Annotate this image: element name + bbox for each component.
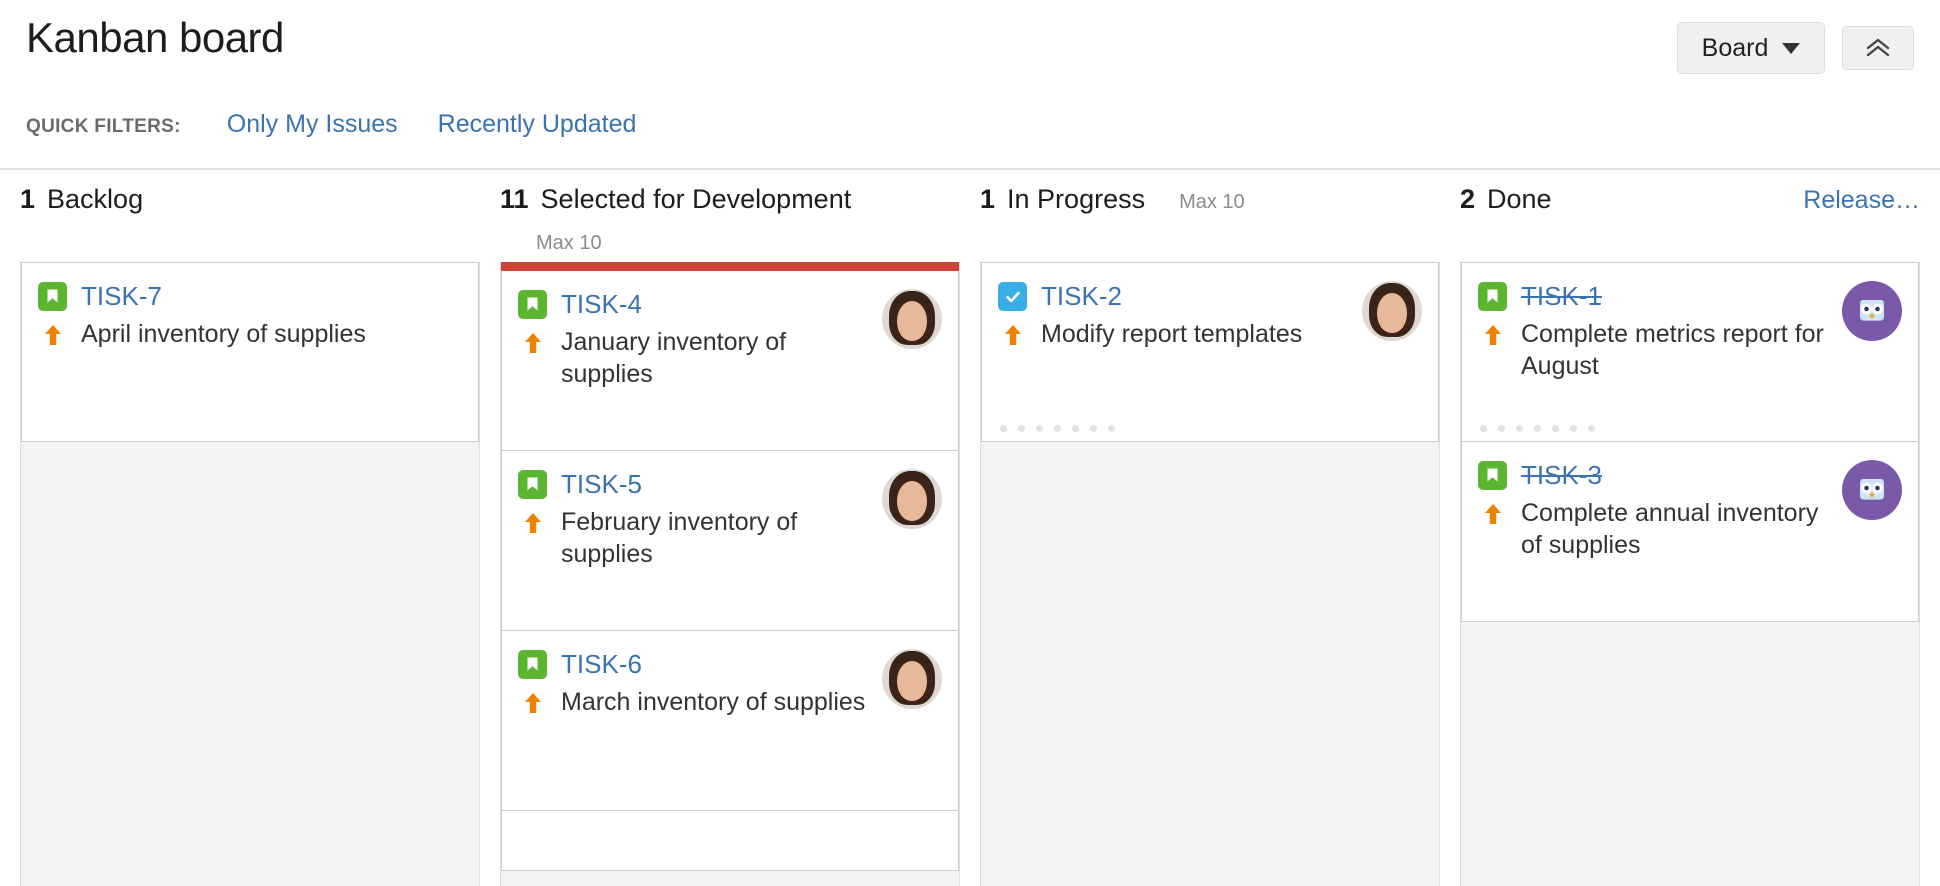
card-summary-row: March inventory of supplies	[518, 686, 868, 718]
issue-card[interactable]: TISK-5February inventory of supplies	[501, 451, 959, 631]
assignee-avatar[interactable]	[1842, 281, 1902, 341]
priority-high-arrow-icon	[518, 688, 547, 717]
issue-key-link[interactable]: TISK-3	[1521, 460, 1602, 491]
issue-summary: Complete annual inventory of supplies	[1521, 497, 1828, 561]
priority-high-arrow-icon	[518, 328, 547, 357]
column-title: Selected for Development	[541, 184, 852, 215]
card-summary-row: January inventory of supplies	[518, 326, 868, 390]
quick-filters-label: QUICK FILTERS:	[26, 116, 181, 138]
card-content: TISK-4January inventory of supplies	[518, 289, 942, 390]
story-icon	[38, 282, 67, 311]
card-drag-handle[interactable]	[1480, 425, 1595, 432]
column-issue-count: 2	[1460, 184, 1475, 215]
column-issue-count: 1	[20, 184, 35, 215]
column-card-list: TISK-4January inventory of suppliesTISK-…	[500, 262, 960, 886]
card-content: TISK-7April inventory of supplies	[38, 281, 462, 350]
wip-limit-exceeded-bar	[501, 262, 959, 271]
issue-key-link[interactable]: TISK-5	[561, 469, 642, 500]
title-row: Kanban board Board	[26, 14, 1914, 74]
column-max-limit: Max 10	[1179, 191, 1245, 214]
issue-card[interactable]: TISK-6March inventory of supplies	[501, 631, 959, 811]
card-key-row: TISK-3	[1478, 460, 1828, 491]
card-key-row: TISK-5	[518, 469, 868, 500]
board-header: Kanban board Board QUICK FILTERS: Only M…	[0, 0, 1940, 170]
story-icon	[518, 290, 547, 319]
issue-key-link[interactable]: TISK-4	[561, 289, 642, 320]
quick-filter-only-my-issues[interactable]: Only My Issues	[227, 110, 398, 139]
card-drag-handle[interactable]	[1000, 425, 1115, 432]
issue-card[interactable]: TISK-7April inventory of supplies	[21, 262, 479, 442]
board-dropdown-label: Board	[1702, 33, 1769, 63]
column-card-list: TISK-1Complete metrics report for August…	[1460, 262, 1920, 886]
issue-key-link[interactable]: TISK-7	[81, 281, 162, 312]
board-column-selected-for-development: 11Selected for DevelopmentMax 10TISK-4Ja…	[500, 170, 960, 886]
card-summary-row: Complete annual inventory of supplies	[1478, 497, 1828, 561]
issue-key-link[interactable]: TISK-1	[1521, 281, 1602, 312]
card-content: TISK-6March inventory of supplies	[518, 649, 942, 718]
issue-key-link[interactable]: TISK-6	[561, 649, 642, 680]
column-header: 11Selected for DevelopmentMax 10	[500, 170, 960, 262]
card-content: TISK-1Complete metrics report for August	[1478, 281, 1902, 382]
issue-card[interactable]: TISK-3Complete annual inventory of suppl…	[1461, 442, 1919, 622]
header-actions: Board	[1677, 14, 1914, 74]
assignee-avatar[interactable]	[882, 649, 942, 709]
release-link[interactable]: Release…	[1803, 186, 1920, 215]
card-key-row: TISK-1	[1478, 281, 1828, 312]
kanban-board: 1BacklogTISK-7April inventory of supplie…	[0, 170, 1940, 886]
card-key-row: TISK-4	[518, 289, 868, 320]
task-icon	[998, 282, 1027, 311]
column-card-list: TISK-7April inventory of supplies	[20, 262, 480, 886]
card-text-block: TISK-7April inventory of supplies	[38, 281, 462, 350]
chevron-down-icon	[1782, 43, 1800, 54]
column-max-limit: Max 10	[536, 232, 960, 255]
story-icon	[1478, 461, 1507, 490]
card-text-block: TISK-5February inventory of supplies	[518, 469, 868, 570]
column-header: 2DoneRelease…	[1460, 170, 1920, 262]
card-content: TISK-5February inventory of supplies	[518, 469, 942, 570]
column-issue-count: 1	[980, 184, 995, 215]
story-icon	[518, 470, 547, 499]
issue-card[interactable]: TISK-1Complete metrics report for August	[1461, 262, 1919, 442]
priority-high-arrow-icon	[518, 508, 547, 537]
issue-key-link[interactable]: TISK-2	[1041, 281, 1122, 312]
column-title: Backlog	[47, 184, 143, 215]
assignee-avatar[interactable]	[1842, 460, 1902, 520]
issue-card-partial[interactable]	[501, 811, 959, 871]
column-issue-count: 11	[500, 184, 529, 215]
header-divider	[0, 168, 1940, 170]
column-card-list: TISK-2Modify report templates	[980, 262, 1440, 886]
assignee-avatar[interactable]	[882, 289, 942, 349]
priority-high-arrow-icon	[1478, 320, 1507, 349]
column-title: Done	[1487, 184, 1552, 215]
double-chevron-up-icon	[1865, 37, 1891, 59]
issue-summary: April inventory of supplies	[81, 318, 366, 350]
board-dropdown-button[interactable]: Board	[1677, 22, 1825, 74]
issue-card[interactable]: TISK-2Modify report templates	[981, 262, 1439, 442]
assignee-avatar[interactable]	[882, 469, 942, 529]
card-text-block: TISK-2Modify report templates	[998, 281, 1348, 350]
card-summary-row: February inventory of supplies	[518, 506, 868, 570]
issue-card[interactable]: TISK-4January inventory of supplies	[501, 271, 959, 451]
card-summary-row: April inventory of supplies	[38, 318, 462, 350]
issue-summary: March inventory of supplies	[561, 686, 865, 718]
issue-summary: Modify report templates	[1041, 318, 1302, 350]
story-icon	[518, 650, 547, 679]
priority-high-arrow-icon	[38, 320, 67, 349]
issue-summary: February inventory of supplies	[561, 506, 868, 570]
quick-filters-bar: QUICK FILTERS: Only My Issues Recently U…	[26, 110, 1914, 139]
assignee-avatar[interactable]	[1362, 281, 1422, 341]
card-key-row: TISK-2	[998, 281, 1348, 312]
card-key-row: TISK-7	[38, 281, 462, 312]
card-content: TISK-3Complete annual inventory of suppl…	[1478, 460, 1902, 561]
column-header: 1Backlog	[20, 170, 480, 262]
card-text-block: TISK-1Complete metrics report for August	[1478, 281, 1828, 382]
column-header: 1In ProgressMax 10	[980, 170, 1440, 262]
card-summary-row: Complete metrics report for August	[1478, 318, 1828, 382]
quick-filter-recently-updated[interactable]: Recently Updated	[438, 110, 637, 139]
card-key-row: TISK-6	[518, 649, 868, 680]
priority-high-arrow-icon	[998, 320, 1027, 349]
card-text-block: TISK-3Complete annual inventory of suppl…	[1478, 460, 1828, 561]
story-icon	[1478, 282, 1507, 311]
issue-summary: January inventory of supplies	[561, 326, 868, 390]
page-title: Kanban board	[26, 14, 284, 62]
board-column-backlog: 1BacklogTISK-7April inventory of supplie…	[20, 170, 480, 886]
column-title: In Progress	[1007, 184, 1145, 215]
issue-summary: Complete metrics report for August	[1521, 318, 1828, 382]
card-text-block: TISK-4January inventory of supplies	[518, 289, 868, 390]
card-text-block: TISK-6March inventory of supplies	[518, 649, 868, 718]
card-content: TISK-2Modify report templates	[998, 281, 1422, 350]
card-summary-row: Modify report templates	[998, 318, 1348, 350]
board-column-done: 2DoneRelease…TISK-1Complete metrics repo…	[1460, 170, 1920, 886]
collapse-header-button[interactable]	[1842, 26, 1914, 70]
priority-high-arrow-icon	[1478, 499, 1507, 528]
board-column-in-progress: 1In ProgressMax 10TISK-2Modify report te…	[980, 170, 1440, 886]
